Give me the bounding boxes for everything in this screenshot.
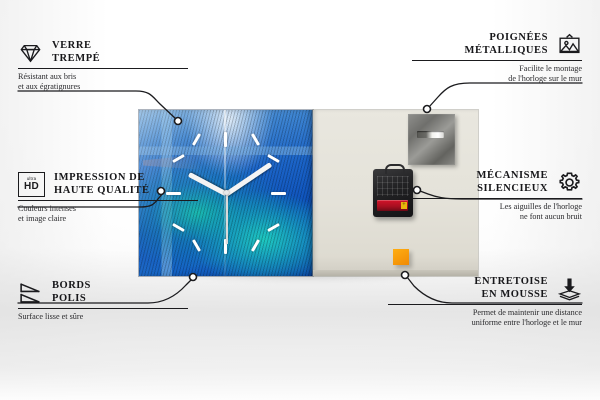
gear-icon <box>557 170 582 195</box>
callout-subtitle: Les aiguilles de l'horlogene font aucun … <box>404 202 582 222</box>
callout-rule <box>404 198 582 199</box>
callout-title: ENTRETOISEEN MOUSSE <box>474 276 548 301</box>
callout-title: MÉCANISMESILENCIEUX <box>477 170 548 195</box>
callout-header: BORDSPOLIS <box>18 280 188 305</box>
callout-header: ultra HD IMPRESSION DEHAUTE QUALITÉ <box>18 172 198 197</box>
callout-subtitle: Résistant aux briset aux égratignures <box>18 72 188 92</box>
callout-poignees-metalliques: POIGNÉESMÉTALLIQUES Facilite le montaged… <box>412 32 582 84</box>
arrow-down-onto-pad-icon <box>557 276 582 301</box>
callout-mecanisme-silencieux: MÉCANISMESILENCIEUX Les aiguilles de l'h… <box>404 170 582 222</box>
callout-header: MÉCANISMESILENCIEUX <box>404 170 582 195</box>
callout-bords-polis: BORDSPOLIS Surface lisse et sûre <box>18 280 188 322</box>
callout-subtitle: Facilite le montagede l'horloge sur le m… <box>412 64 582 84</box>
callout-title: IMPRESSION DEHAUTE QUALITÉ <box>54 172 150 197</box>
callout-header: VERRETREMPÉ <box>18 40 188 65</box>
hanger-slot <box>417 131 444 138</box>
diamond-gem-icon <box>18 40 43 65</box>
hanging-picture-frame-icon <box>557 32 582 57</box>
callout-rule <box>388 304 582 305</box>
infographic-canvas: + <box>0 0 600 400</box>
metal-hanger-part <box>408 114 455 165</box>
callout-rule <box>412 60 582 61</box>
callout-subtitle: Couleurs intenseset image claire <box>18 204 198 224</box>
mechanism-hook <box>385 164 405 174</box>
callout-rule <box>18 68 188 69</box>
foam-spacer-part <box>393 249 409 265</box>
callout-title: BORDSPOLIS <box>52 280 91 305</box>
callout-header: POIGNÉESMÉTALLIQUES <box>412 32 582 57</box>
clock-second-hand <box>226 192 228 244</box>
callout-verre-trempe: VERRETREMPÉ Résistant aux briset aux égr… <box>18 40 188 92</box>
callout-rule <box>18 308 188 309</box>
callout-entretoise-en-mousse: ENTRETOISEEN MOUSSE Permet de maintenir … <box>388 276 582 328</box>
clock-tick <box>271 192 286 195</box>
callout-title: VERRETREMPÉ <box>52 40 100 65</box>
connector-poignees <box>429 83 582 107</box>
callout-subtitle: Surface lisse et sûre <box>18 312 188 322</box>
callout-title: POIGNÉESMÉTALLIQUES <box>465 32 548 57</box>
clock-center-hub <box>224 190 229 195</box>
callout-header: ENTRETOISEEN MOUSSE <box>388 276 582 301</box>
ultra-hd-badge-icon: ultra HD <box>18 172 45 197</box>
callout-subtitle: Permet de maintenir une distanceuniforme… <box>388 308 582 328</box>
clock-tick <box>224 132 227 147</box>
callout-impression-haute-qualite: ultra HD IMPRESSION DEHAUTE QUALITÉ Coul… <box>18 172 198 224</box>
diagonal-lines-icon <box>18 280 43 305</box>
badge-hd-text: HD <box>24 182 39 192</box>
callout-rule <box>18 200 198 201</box>
